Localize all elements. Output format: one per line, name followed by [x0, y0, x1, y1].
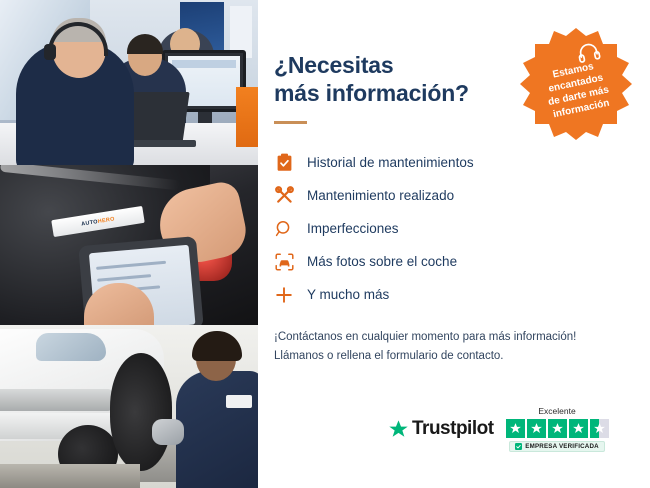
verified-company-badge: EMPRESA VERIFICADA [509, 441, 605, 452]
badge-text-block: Estamos encantados de darte más informac… [507, 15, 645, 153]
title-underline-rule [274, 121, 307, 124]
tablet-text-line [97, 274, 151, 282]
mechanic-wheel-photo [0, 325, 258, 488]
verified-company-label: EMPRESA VERIFICADA [525, 443, 599, 450]
tablet-text-line [96, 261, 166, 270]
car-inspection-ruler-photo: AUTOHERO [0, 165, 258, 325]
monitor-toolbar [172, 60, 236, 68]
feature-list: Historial de mantenimientos Mantenimient… [274, 146, 626, 311]
call-center-agents-photo [0, 0, 258, 165]
feature-label: Y mucho más [307, 287, 389, 302]
page-title-line1: ¿Necesitas [274, 52, 393, 78]
contact-line-2: Llámanos o rellena el formulario de cont… [274, 347, 626, 366]
feature-item-imperfections: Imperfecciones [274, 212, 626, 245]
contact-copy: ¡Contáctanos en cualquier momento para m… [274, 328, 626, 366]
content-column: ¿Necesitas más información? Estamos enca… [258, 0, 650, 488]
feature-label: Más fotos sobre el coche [307, 254, 457, 269]
star-filled [527, 419, 546, 438]
magnifier-icon [274, 219, 294, 239]
star-filled [548, 419, 567, 438]
mechanic-uniform-badge [226, 395, 252, 408]
trustpilot-wordmark: Trustpilot [412, 418, 494, 440]
car-grille [0, 389, 112, 411]
info-banner: AUTOHERO [0, 0, 650, 488]
trustpilot-star-icon [388, 419, 409, 440]
tools-icon [274, 186, 294, 206]
feature-item-much-more: Y mucho más [274, 278, 626, 311]
verified-check-icon [515, 443, 522, 450]
plus-icon [274, 285, 294, 305]
car-lift-platform [0, 464, 140, 488]
feature-item-more-photos: Más fotos sobre el coche [274, 245, 626, 278]
car-headlight [36, 333, 106, 361]
trustpilot-stars [506, 419, 609, 438]
feature-item-maintenance-history: Historial de mantenimientos [274, 146, 626, 179]
page-title: ¿Necesitas más información? [274, 52, 504, 107]
mechanic-body [176, 371, 258, 488]
trustpilot-rating-block[interactable]: Trustpilot Excelente EMPRESA VERIFICAD [388, 406, 609, 452]
trustpilot-logo[interactable]: Trustpilot [388, 418, 494, 440]
feature-label: Mantenimiento realizado [307, 188, 454, 203]
mechanic-glove [152, 419, 184, 445]
trustpilot-rating-label: Excelente [538, 406, 575, 416]
page-title-line2: más información? [274, 80, 469, 106]
contact-line-1: ¡Contáctanos en cualquier momento para m… [274, 328, 626, 347]
star-filled [506, 419, 525, 438]
orange-accent-panel [236, 87, 258, 147]
promo-starburst-badge: Estamos encantados de darte más informac… [518, 26, 634, 142]
headset-earcup [44, 44, 56, 60]
ruler-brand-text: AUTOHERO [81, 216, 115, 227]
feature-item-maintenance-done: Mantenimiento realizado [274, 179, 626, 212]
detached-tyre [110, 353, 172, 471]
star-half [590, 419, 609, 438]
feature-label: Historial de mantenimientos [307, 155, 474, 170]
photo-column: AUTOHERO [0, 0, 258, 488]
trustpilot-score-column: Excelente EMPRESA VERIFICADA [506, 406, 609, 452]
feature-label: Imperfecciones [307, 221, 399, 236]
clipboard-check-icon [274, 153, 294, 173]
star-filled [569, 419, 588, 438]
car-scan-icon [274, 252, 294, 272]
